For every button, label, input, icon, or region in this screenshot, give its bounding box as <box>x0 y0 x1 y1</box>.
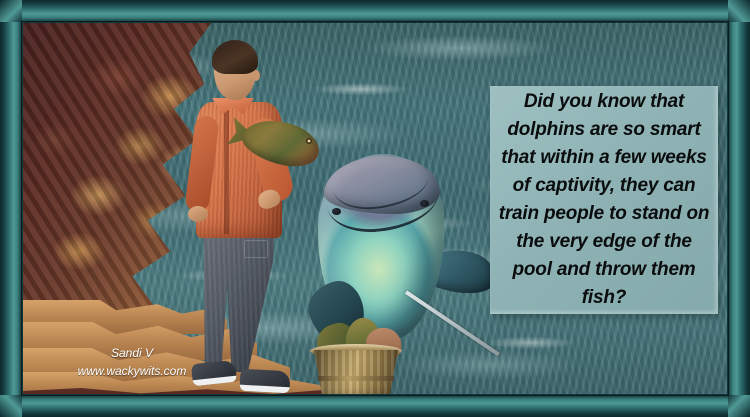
man-hair <box>212 40 258 74</box>
dolphin-eye-right <box>420 200 429 207</box>
man-hand-left <box>188 206 208 222</box>
quote-panel: Did you know that dolphins are so smart … <box>490 86 718 314</box>
frame-corner-bottom-right <box>728 395 750 417</box>
bucket-body <box>314 350 398 395</box>
man-pants-pocket <box>244 240 268 258</box>
frame-corner-top-left <box>0 0 22 22</box>
wacky-wits-poster: Sandi V www.wackywits.com Did you know t… <box>0 0 750 417</box>
dolphin-eye-left <box>332 208 341 215</box>
man-holding-fish <box>182 40 312 395</box>
frame-corner-top-right <box>728 0 750 22</box>
man-shirt-placket <box>224 106 229 234</box>
frame-top-bar <box>0 0 750 22</box>
signature-name: Sandi V <box>52 344 212 362</box>
man-shoe-right <box>239 369 290 394</box>
man-ear <box>252 70 260 81</box>
frame-corner-bottom-left <box>0 395 22 417</box>
frame-bottom-bar <box>0 395 750 417</box>
signature: Sandi V www.wackywits.com <box>52 344 212 380</box>
dolphin <box>314 140 504 340</box>
signature-website: www.wackywits.com <box>52 362 212 380</box>
quote-text: Did you know that dolphins are so smart … <box>490 88 718 312</box>
held-fish-eye <box>306 138 312 144</box>
bucket-of-fish <box>310 340 402 395</box>
frame-right-bar <box>728 0 750 417</box>
frame-left-bar <box>0 0 22 417</box>
bucket-hoop <box>318 376 394 381</box>
